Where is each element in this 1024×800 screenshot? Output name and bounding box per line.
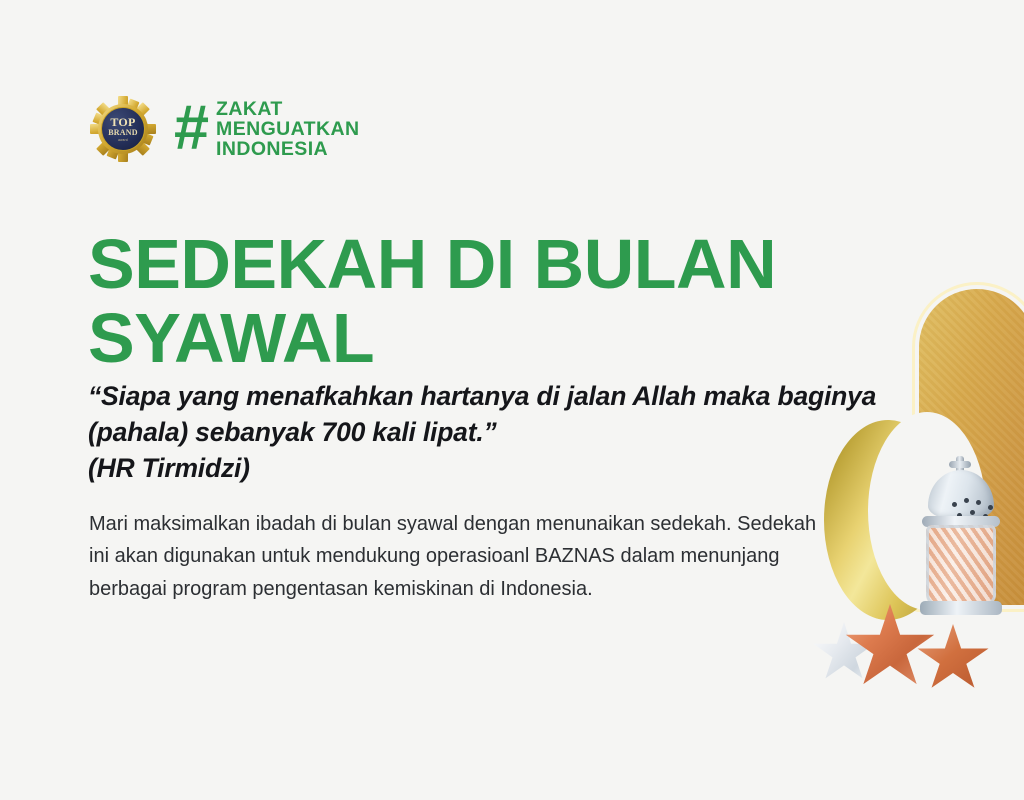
top-brand-disc: TOP BRAND award [101, 107, 145, 151]
top-brand-award-logo: TOP BRAND award [90, 96, 156, 162]
lantern-ring [922, 516, 1000, 527]
star-white-icon [812, 622, 876, 684]
top-brand-line3: award [118, 139, 128, 142]
top-brand-line2: BRAND [108, 129, 137, 137]
star-orange-right-icon [916, 624, 990, 694]
gold-arch-icon [912, 282, 1024, 612]
campaign-line-3: INDONESIA [216, 139, 359, 159]
lantern-dome [928, 470, 994, 520]
page-title: SEDEKAH DI BULAN SYAWAL [88, 228, 848, 375]
campaign-lockup: # ZAKAT MENGUATKAN INDONESIA [174, 99, 359, 159]
poster-canvas: TOP BRAND award # ZAKAT MENGUATKAN INDON… [0, 0, 1024, 800]
brand-row: TOP BRAND award # ZAKAT MENGUATKAN INDON… [90, 96, 359, 162]
lantern-body [926, 525, 996, 605]
gold-arch-inner-icon [919, 289, 1024, 605]
campaign-wordmark: ZAKAT MENGUATKAN INDONESIA [216, 99, 359, 159]
top-brand-line1: TOP [110, 116, 135, 128]
campaign-line-2: MENGUATKAN [216, 119, 359, 139]
body-paragraph: Mari maksimalkan ibadah di bulan syawal … [89, 508, 819, 605]
lantern-finial [956, 456, 964, 474]
star-cluster [812, 602, 1002, 688]
silver-lantern-icon [914, 456, 1010, 632]
hashtag-icon: # [174, 103, 207, 155]
hadith-quote-text: “Siapa yang menafkahkan hartanya di jala… [88, 381, 876, 447]
crescent-moon-cutout [868, 412, 986, 610]
lantern-dome-perforations [952, 498, 998, 524]
hadith-quote: “Siapa yang menafkahkan hartanya di jala… [88, 378, 878, 486]
campaign-line-1: ZAKAT [216, 99, 359, 119]
lantern-base [920, 601, 1002, 615]
hadith-source: (HR Tirmidzi) [88, 450, 878, 486]
star-orange-main-icon [844, 604, 936, 692]
